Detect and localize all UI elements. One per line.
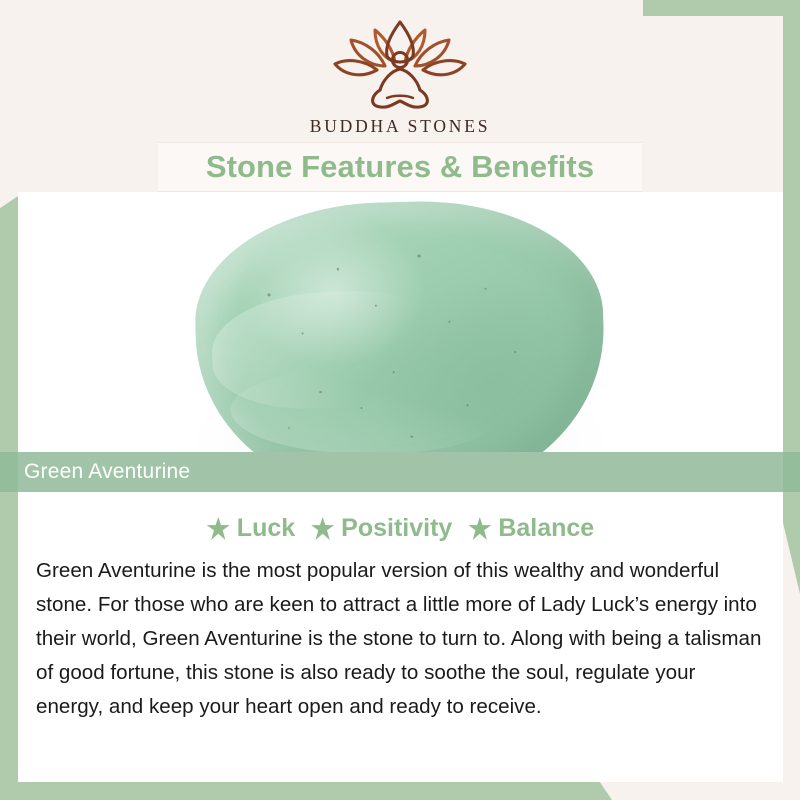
stone-photo-backdrop bbox=[18, 192, 783, 452]
keyword-label: Luck bbox=[237, 514, 295, 543]
keyword-item-luck: Luck bbox=[207, 514, 295, 543]
stone-name-banner: Green Aventurine bbox=[0, 452, 800, 492]
stone-name: Green Aventurine bbox=[24, 460, 190, 484]
star-icon bbox=[468, 517, 491, 540]
star-icon bbox=[311, 517, 334, 540]
brand-logo: BUDDHA STONES bbox=[0, 18, 800, 137]
lotus-meditation-figure-icon bbox=[325, 18, 475, 110]
green-aventurine-stone-image bbox=[192, 197, 608, 452]
keyword-label: Positivity bbox=[341, 514, 452, 543]
frame-left-accent bbox=[0, 196, 18, 800]
keyword-item-positivity: Positivity bbox=[311, 514, 452, 543]
section-title-banner: Stone Features & Benefits bbox=[158, 142, 642, 192]
keyword-list: Luck Positivity Balance bbox=[18, 514, 783, 543]
stone-description-text: Green Aventurine is the most popular ver… bbox=[36, 554, 766, 724]
brand-wordmark: BUDDHA STONES bbox=[0, 116, 800, 137]
page-title: Stone Features & Benefits bbox=[206, 149, 594, 185]
keyword-item-balance: Balance bbox=[468, 514, 594, 543]
keyword-label: Balance bbox=[498, 514, 594, 543]
infographic-page: BUDDHA STONES Stone Features & Benefits bbox=[0, 0, 800, 800]
frame-top-right-accent bbox=[643, 0, 800, 16]
stone-description-panel: Luck Positivity Balance Green Aventurine… bbox=[18, 492, 783, 782]
stone-photo-panel bbox=[18, 192, 783, 452]
frame-bottom-accent bbox=[0, 782, 612, 800]
star-icon bbox=[207, 517, 230, 540]
